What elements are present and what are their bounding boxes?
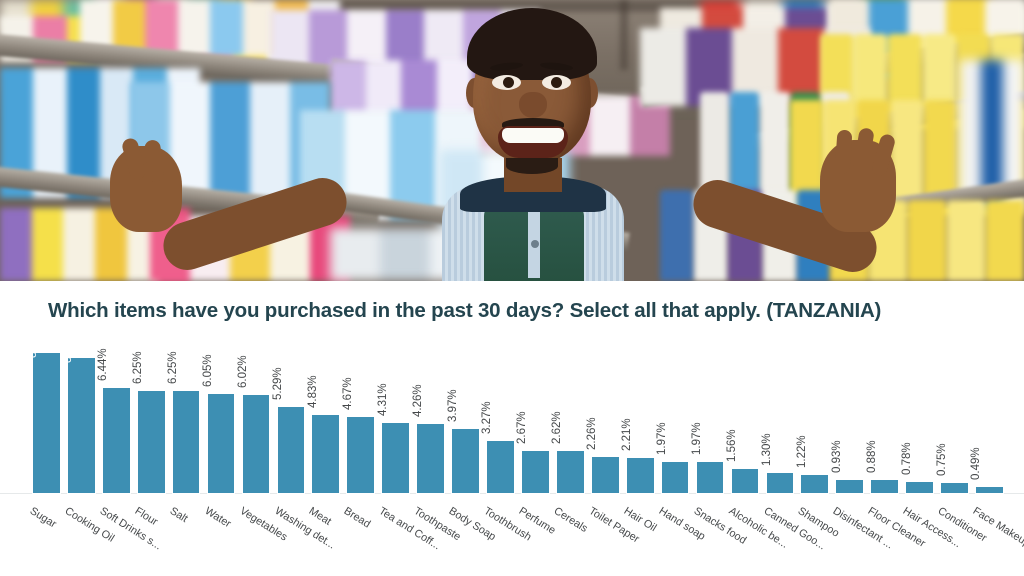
bar[interactable] [626,457,655,494]
bar-value-label: 1.22% [796,435,808,468]
bar[interactable] [521,450,550,495]
bar[interactable] [800,474,829,494]
bar-value-label: 3.97% [447,389,459,422]
bar[interactable] [905,481,934,494]
mouth [498,126,568,158]
bar-plot: 8.54%Sugar8.23%Cooking Oil6.44%Soft Drin… [0,341,1024,576]
bar-value-label: 0.78% [901,442,913,475]
bar[interactable] [556,450,585,494]
bar-group[interactable]: 2.26% [591,456,620,494]
bar[interactable] [835,479,864,495]
bar[interactable] [696,461,725,494]
bar-group[interactable]: 0.93% [835,479,864,495]
bar[interactable] [207,393,236,494]
bar-group[interactable]: 0.78% [905,481,934,494]
banner-photo [0,0,1024,281]
bar-value-label: 2.26% [586,418,598,451]
bar-value-label: 1.97% [656,423,668,456]
bar-value-label: 1.56% [726,429,738,462]
bar-value-label: 2.62% [551,412,563,445]
bar-value-label: 6.05% [202,355,214,388]
bar[interactable] [416,423,445,494]
category-label: Bread [342,505,373,530]
bar-group[interactable]: 3.97% [451,428,480,494]
bar-value-label: 3.27% [481,401,493,434]
bar-group[interactable]: 6.05% [207,393,236,494]
pupil [503,77,514,88]
bar[interactable] [940,482,969,495]
category-label: Water [202,505,232,530]
category-label: Cereals [552,505,590,535]
bar-value-label: 8.23% [62,330,74,363]
bar[interactable] [346,416,375,494]
bar-group[interactable]: 1.97% [696,461,725,494]
bar[interactable] [661,461,690,494]
bar-value-label: 6.02% [237,355,249,388]
bar-group[interactable]: 1.97% [661,461,690,494]
bar-group[interactable]: 1.30% [766,472,795,494]
bar-group[interactable]: 2.62% [556,450,585,494]
bar-group[interactable]: 4.31% [381,422,410,494]
bar-group[interactable]: 4.26% [416,423,445,494]
shirt-button [531,240,539,248]
bar-value-label: 0.88% [866,441,878,474]
bar-group[interactable]: 6.25% [172,390,201,494]
bar-value-label: 0.93% [831,440,843,473]
bar[interactable] [591,456,620,494]
bar-value-label: 8.54% [27,325,39,358]
bar-group[interactable]: 4.83% [311,414,340,495]
bar[interactable] [451,428,480,494]
infographic-page: Which items have you purchased in the pa… [0,0,1024,576]
bar-value-label: 6.25% [132,351,144,384]
bar-value-label: 2.21% [621,419,633,452]
bar-value-label: 6.25% [167,351,179,384]
store-employee [440,8,626,281]
bar-value-label: 4.67% [342,378,354,411]
bar-group[interactable]: 1.22% [800,474,829,494]
chart-container: Which items have you purchased in the pa… [0,281,1024,576]
bar-value-label: 5.29% [272,367,284,400]
bar-value-label: 1.30% [761,434,773,467]
bar[interactable] [975,486,1004,494]
bar-value-label: 0.75% [936,443,948,476]
right-finger [834,130,852,175]
bar-group[interactable]: 8.54% [32,352,61,494]
hair [467,8,597,80]
bar-group[interactable]: 2.21% [626,457,655,494]
bar-group[interactable]: 0.49% [975,486,1004,494]
category-label: Sugar [28,505,59,530]
bar-group[interactable]: 3.27% [486,440,515,495]
bar-value-label: 4.26% [412,384,424,417]
bar[interactable] [766,472,795,494]
bar-group[interactable]: 0.88% [870,479,899,494]
chin-beard [506,158,558,174]
bar[interactable] [67,357,96,494]
bar[interactable] [311,414,340,495]
bar-value-label: 2.67% [516,411,528,444]
bar-group[interactable]: 5.29% [277,406,306,494]
bar-value-label: 4.83% [307,375,319,408]
pupil [551,77,562,88]
bar-group[interactable]: 6.44% [102,387,131,494]
bar-value-label: 0.49% [970,447,982,480]
bar[interactable] [137,390,166,494]
bar[interactable] [172,390,201,494]
bar[interactable] [32,352,61,494]
bar[interactable] [731,468,760,494]
bar-value-label: 1.97% [691,423,703,456]
chart-title: Which items have you purchased in the pa… [48,299,988,323]
bar[interactable] [277,406,306,494]
bar-group[interactable]: 6.02% [242,394,271,494]
teeth [502,128,564,143]
bar[interactable] [486,440,515,495]
bar-group[interactable]: 0.75% [940,482,969,495]
bar[interactable] [102,387,131,494]
nose [519,92,547,118]
bar-group[interactable]: 2.67% [521,450,550,495]
bar-group[interactable]: 1.56% [731,468,760,494]
bar[interactable] [381,422,410,494]
category-label: Salt [167,505,189,525]
bar-group[interactable]: 6.25% [137,390,166,494]
bar-group[interactable]: 8.23% [67,357,96,494]
bar[interactable] [870,479,899,494]
bar-value-label: 4.31% [377,384,389,417]
bar-group[interactable]: 4.67% [346,416,375,494]
bar-value-label: 6.44% [97,348,109,381]
bar[interactable] [242,394,271,494]
